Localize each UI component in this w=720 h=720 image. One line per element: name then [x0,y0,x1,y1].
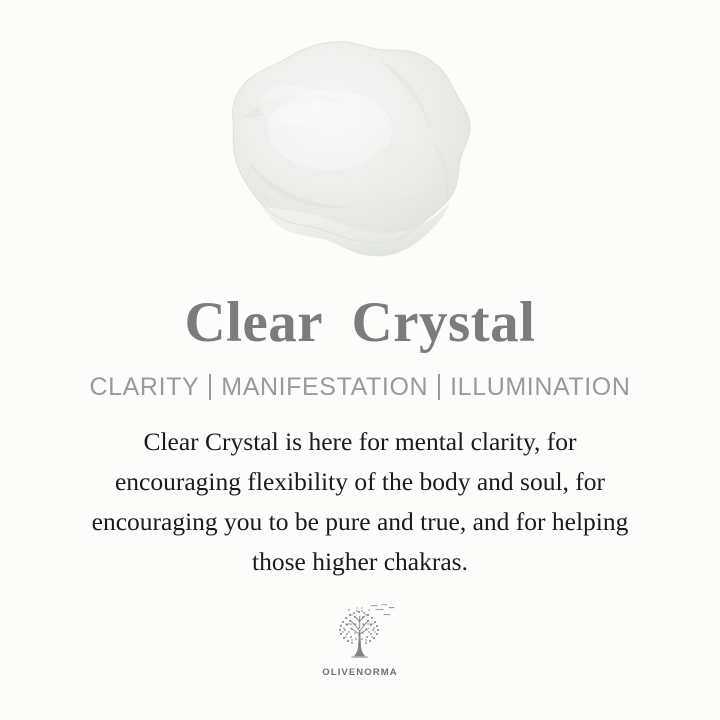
keyword-manifestation: MANIFESTATION [221,372,428,402]
brand-name: OLIVENORMA [322,667,397,678]
description-line: Clear Crystal is here for mental clarity… [30,422,690,462]
description-line: encouraging you to be pure and true, and… [30,502,690,542]
product-info-card: Clear Crystal CLARITY MANIFESTATION ILLU… [0,0,720,720]
description-line: encouraging flexibility of the body and … [30,462,690,502]
brand-logo: OLIVENORMA [314,604,406,678]
clear-crystal-icon [0,0,720,292]
product-image-container [0,0,720,292]
keyword-clarity: CLARITY [89,372,199,402]
keyword-separator-icon [209,374,211,400]
page-title: Clear Crystal [184,292,535,356]
olive-tree-with-birds-logo-icon [314,604,406,666]
keyword-illumination: ILLUMINATION [450,372,630,402]
keyword-list: CLARITY MANIFESTATION ILLUMINATION [89,372,630,402]
description-line: those higher chakras. [30,542,690,582]
product-description: Clear Crystal is here for mental clarity… [30,422,690,582]
keyword-separator-icon [438,374,440,400]
